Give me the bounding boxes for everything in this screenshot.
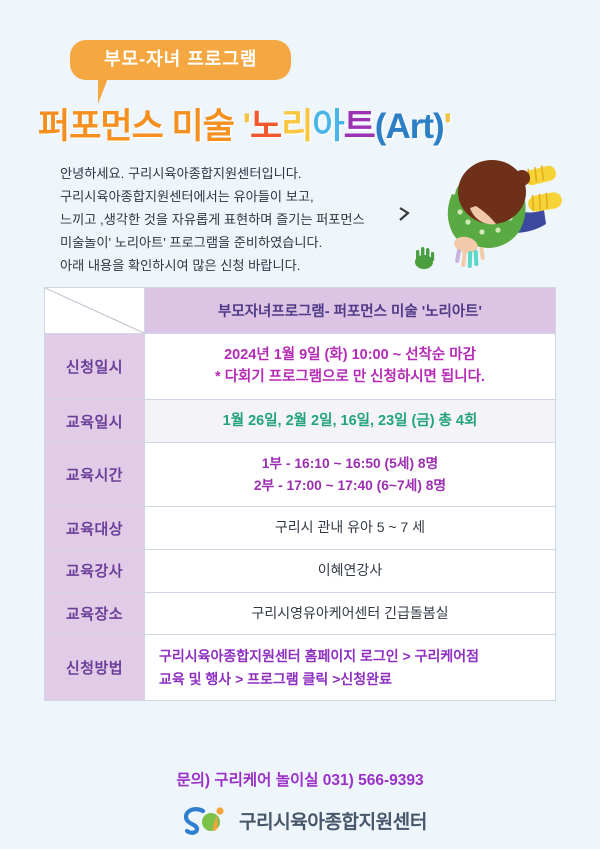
table-row: 신청방법 구리시육아종합지원센터 홈페이지 로그인 > 구리케어점 교육 및 행… [45,635,556,701]
row-value-class-time: 1부 - 16:10 ~ 16:50 (5세) 8명 2부 - 17:00 ~ … [145,443,556,507]
title-part-1: ' [243,107,250,146]
title-part-2: 노 [250,107,281,146]
title-part-6: (Art) [375,107,444,146]
row-label-apply-date: 신청일시 [45,334,145,400]
row-value-apply-date: 2024년 1월 9일 (화) 10:00 ~ 선착순 마감 * 다회기 프로그… [145,334,556,400]
page-title: 퍼포먼스 미술 '노리아트(Art)' [38,98,451,149]
title-part-0: 퍼포먼스 미술 [38,107,243,146]
row-value-target: 구리시 관내 유아 5 ~ 7 세 [145,507,556,550]
instructor-line1: 이혜연강사 [153,560,547,582]
table-header-row: 부모자녀프로그램- 퍼포먼스 미술 '노리아트' [45,288,556,334]
table-row: 교육시간 1부 - 16:10 ~ 16:50 (5세) 8명 2부 - 17:… [45,443,556,507]
table-corner-cell [45,288,145,334]
title-part-4: 아 [312,107,343,146]
row-label-apply-method: 신청방법 [45,635,145,701]
target-line1: 구리시 관내 유아 5 ~ 7 세 [153,517,547,539]
apply-method-line2: 교육 및 행사 > 프로그램 클릭 >신청완료 [159,668,547,690]
table-row: 교육일시 1월 26일, 2월 2일, 16일, 23일 (금) 총 4회 [45,399,556,442]
class-date-line1: 1월 26일, 2월 2일, 16일, 23일 (금) 총 4회 [153,410,547,432]
row-label-class-date: 교육일시 [45,399,145,442]
child-illustration [398,150,578,275]
apply-date-line1: 2024년 1월 9일 (화) 10:00 ~ 선착순 마감 [153,344,547,366]
row-label-target: 교육대상 [45,507,145,550]
organization-name: 구리시육아종합지원센터 [239,807,427,834]
program-badge-label: 부모-자녀 프로그램 [70,40,291,80]
table-header-title: 부모자녀프로그램- 퍼포먼스 미술 '노리아트' [145,288,556,334]
table-row: 교육장소 구리시영유아케어센터 긴급돌봄실 [45,592,556,635]
row-value-apply-method: 구리시육아종합지원센터 홈페이지 로그인 > 구리케어점 교육 및 행사 > 프… [145,635,556,701]
class-time-line1: 1부 - 16:10 ~ 16:50 (5세) 8명 [153,453,547,474]
row-label-location: 교육장소 [45,592,145,635]
handprint-icon [415,247,434,269]
table-row: 교육강사 이혜연강사 [45,549,556,592]
apply-method-line1: 구리시육아종합지원센터 홈페이지 로그인 > 구리케어점 [159,645,547,667]
title-part-3: 리 [281,107,312,146]
contact-info: 문의) 구리케어 놀이실 031) 566-9393 [0,768,600,790]
organization-logo-bar: 구리시육아종합지원센터 [155,800,455,840]
child-hair [458,160,526,224]
row-value-class-date: 1월 26일, 2월 2일, 16일, 23일 (금) 총 4회 [145,399,556,442]
row-value-instructor: 이혜연강사 [145,549,556,592]
location-line1: 구리시영유아케어센터 긴급돌봄실 [153,603,547,625]
table-row: 교육대상 구리시 관내 유아 5 ~ 7 세 [45,507,556,550]
row-label-class-time: 교육시간 [45,443,145,507]
row-label-instructor: 교육강사 [45,549,145,592]
child-socks [523,164,563,212]
center-logo-icon [183,805,229,835]
apply-date-line2: * 다회기 프로그램으로 만 신청하시면 됩니다. [153,366,547,388]
title-part-7: ' [444,107,451,146]
title-part-5: 트 [344,107,375,146]
class-time-line2: 2부 - 17:00 ~ 17:40 (6~7세) 8명 [153,475,547,496]
child-hair-tuft [514,170,530,186]
intro-paragraph: 안녕하세요. 구리시육아종합지원센터입니다. 구리시육아종합지원센터에서는 유아… [60,162,365,277]
splash-mark-icon [400,208,408,220]
row-value-location: 구리시영유아케어센터 긴급돌봄실 [145,592,556,635]
program-badge: 부모-자녀 프로그램 [70,40,291,80]
diagonal-slash-icon [45,288,144,333]
table-row: 신청일시 2024년 1월 9일 (화) 10:00 ~ 선착순 마감 * 다회… [45,334,556,400]
program-info-table: 부모자녀프로그램- 퍼포먼스 미술 '노리아트' 신청일시 2024년 1월 9… [44,287,556,701]
